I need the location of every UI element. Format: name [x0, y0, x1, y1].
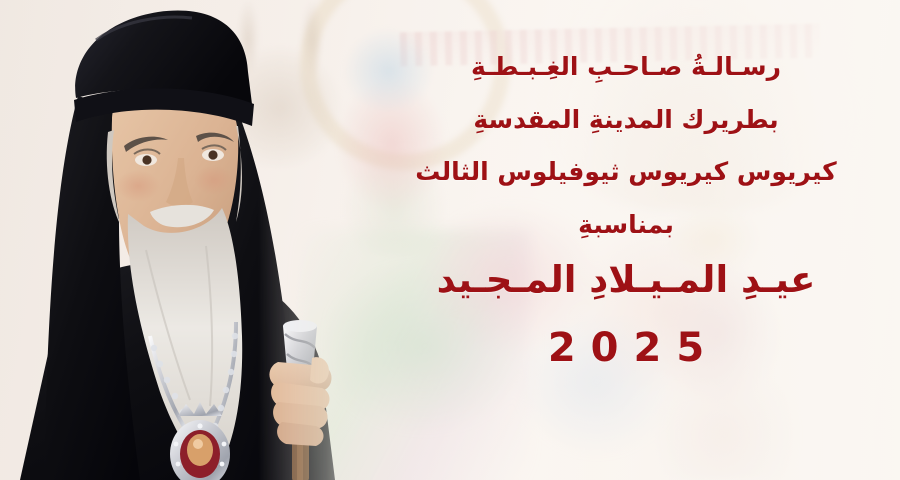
patriarch-portrait — [0, 0, 380, 480]
message-line-1: رسـالـةُ صـاحـبِ الغِـبـطـةِ — [471, 54, 781, 81]
message-line-5-feast-title: عيـدِ المـيـلادِ المـجـيد — [437, 260, 816, 299]
message-line-3: كيريوس كيريوس ثيوفيلوس الثالث — [415, 159, 836, 186]
message-text-block: رسـالـةُ صـاحـبِ الغِـبـطـةِ بطريرك المد… — [352, 0, 900, 480]
message-line-4: بمناسبةِ — [578, 212, 674, 239]
christmas-message-banner: رسـالـةُ صـاحـبِ الغِـبـطـةِ بطريرك المد… — [0, 0, 900, 480]
message-year: 2025 — [533, 327, 719, 369]
message-line-2: بطريرك المدينةِ المقدسةِ — [473, 107, 778, 134]
